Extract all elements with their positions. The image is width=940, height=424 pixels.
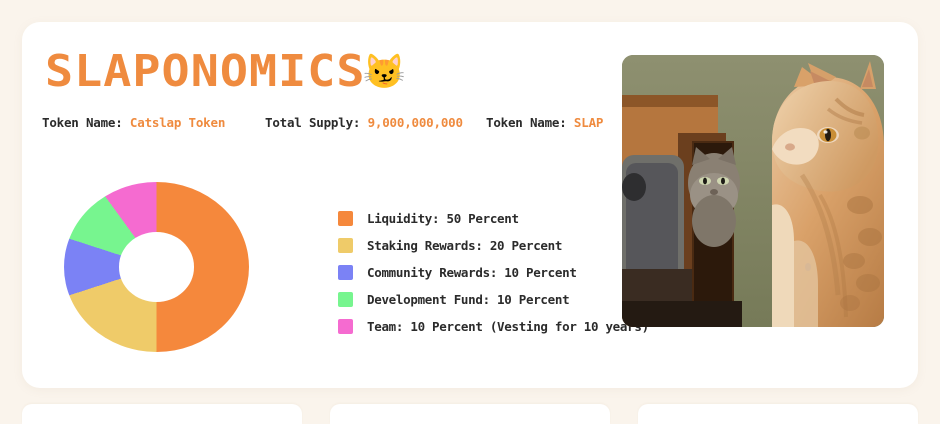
tokenomics-chart: Liquidity: 50 PercentStaking Rewards: 20… (42, 162, 622, 372)
meta-value: 9,000,000,000 (368, 115, 463, 130)
legend-item: Community Rewards: 10 Percent (338, 264, 649, 280)
meta-label: Token Name: (486, 115, 567, 130)
legend-swatch-icon (338, 292, 353, 307)
next-card (22, 404, 302, 424)
next-card (638, 404, 918, 424)
meta-value: Catslap Token (130, 115, 225, 130)
legend-label: Development Fund: 10 Percent (367, 292, 569, 307)
meta-label: Token Name: (42, 115, 123, 130)
foreground-cat (772, 61, 884, 327)
donut-chart (64, 182, 249, 352)
legend-swatch-icon (338, 211, 353, 226)
legend-label: Team: 10 Percent (Vesting for 10 years) (367, 319, 649, 334)
legend-item: Liquidity: 50 Percent (338, 210, 649, 226)
legend-swatch-icon (338, 265, 353, 280)
meta-token-name: Token Name: Catslap Token (42, 115, 225, 130)
cat-photo-image (622, 55, 884, 327)
smirking-cat-face-icon: 😼 (363, 55, 405, 89)
meta-label: Total Supply: (265, 115, 360, 130)
legend-swatch-icon (338, 238, 353, 253)
cat-photo (622, 55, 884, 327)
page-root: SLAPONOMICS 😼 Token Name: Catslap Token … (0, 0, 940, 414)
legend-label: Liquidity: 50 Percent (367, 211, 519, 226)
legend-item: Staking Rewards: 20 Percent (338, 237, 649, 253)
legend-label: Staking Rewards: 20 Percent (367, 238, 562, 253)
legend-swatch-icon (338, 319, 353, 334)
header: SLAPONOMICS 😼 (45, 50, 406, 94)
chart-legend: Liquidity: 50 PercentStaking Rewards: 20… (338, 210, 649, 334)
meta-total-supply: Total Supply: 9,000,000,000 (265, 115, 463, 130)
legend-item: Development Fund: 10 Percent (338, 291, 649, 307)
meta-value: SLAP (574, 115, 603, 130)
tokenomics-card: SLAPONOMICS 😼 Token Name: Catslap Token … (22, 22, 918, 388)
page-title: SLAPONOMICS (45, 50, 366, 94)
legend-label: Community Rewards: 10 Percent (367, 265, 577, 280)
meta-token-symbol: Token Name: SLAP (486, 115, 603, 130)
donut-center-hole (119, 232, 195, 302)
legend-item: Team: 10 Percent (Vesting for 10 years) (338, 318, 649, 334)
background-cat (688, 147, 740, 247)
next-card (330, 404, 610, 424)
token-meta-row: Token Name: Catslap Token Total Supply: … (42, 115, 642, 137)
next-section-peek (22, 404, 918, 424)
